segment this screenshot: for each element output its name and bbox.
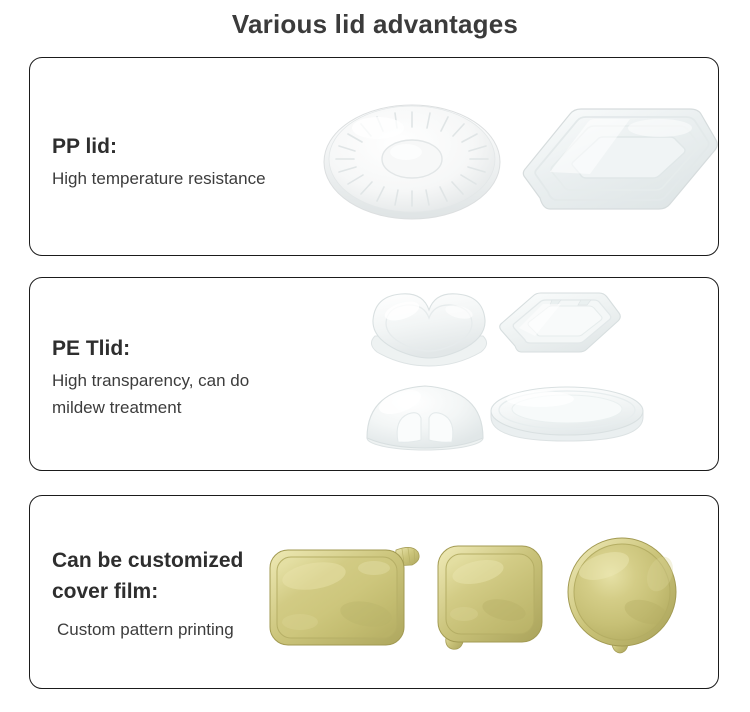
- page-title: Various lid advantages: [0, 8, 750, 40]
- product-pe-heart-lid: [357, 286, 502, 371]
- card-pe-lid-heading: PE Tlid:: [52, 336, 249, 361]
- card-cover-film-description: Custom pattern printing: [52, 616, 243, 643]
- card-pp-lid-heading: PP lid:: [52, 134, 266, 159]
- product-pp-round-lid: [320, 96, 520, 226]
- card-pe-lid-description-line-1: High transparency, can do: [52, 367, 249, 394]
- card-cover-film-heading-line-1: Can be customized: [52, 548, 243, 573]
- card-pe-lid-text: PE Tlid: High transparency, can do milde…: [52, 336, 249, 421]
- card-pp-lid-text: PP lid: High temperature resistance: [52, 134, 266, 192]
- product-pe-square-lid: [495, 286, 625, 366]
- product-pe-oval-lid: [485, 381, 650, 449]
- product-gold-round-lid: [560, 534, 690, 660]
- card-pp-lid-description: High temperature resistance: [52, 165, 266, 192]
- card-pe-lid-description-line-2: mildew treatment: [52, 394, 249, 421]
- card-cover-film-heading-line-2: cover film:: [52, 579, 243, 604]
- card-pe-lid: PE Tlid: High transparency, can do milde…: [29, 277, 719, 471]
- card-pp-lid: PP lid: High temperature resistance: [29, 57, 719, 256]
- product-gold-rect-lid: [262, 538, 442, 656]
- card-cover-film-text: Can be customized cover film: Custom pat…: [52, 548, 243, 643]
- product-gold-square-lid: [430, 538, 555, 658]
- product-pe-dome-lid: [360, 376, 490, 454]
- card-cover-film: Can be customized cover film: Custom pat…: [29, 495, 719, 689]
- product-pp-rect-lid: [510, 80, 719, 235]
